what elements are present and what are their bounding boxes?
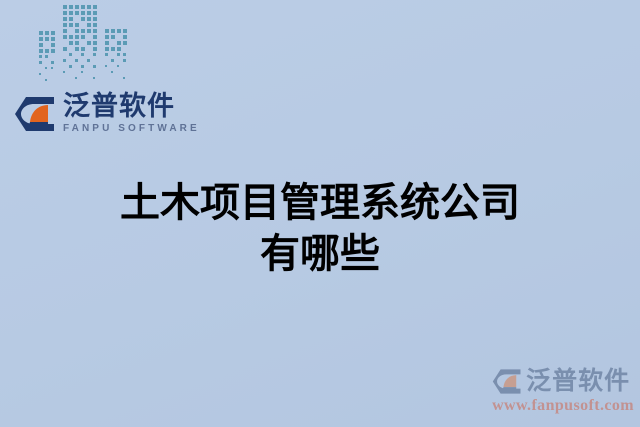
watermark-lockup: 泛普软件 [492,368,634,395]
page-title-line-1: 土木项目管理系统公司 [0,178,640,229]
fanpu-logo-mark-icon [492,368,522,395]
brand-name-en: FANPU SOFTWARE [63,124,200,134]
brand-lockup: 泛普软件 FANPU SOFTWARE [14,93,200,134]
promo-banner: 泛普软件 FANPU SOFTWARE 土木项目管理系统公司 有哪些 泛普软件 … [0,0,640,427]
fanpu-logo-mark-icon [14,95,56,133]
watermark-url: www.fanpusoft.com [492,397,634,415]
page-title: 土木项目管理系统公司 有哪些 [0,178,640,280]
brand-wordmark: 泛普软件 FANPU SOFTWARE [63,93,200,134]
pixel-city-skyline-icon [36,0,136,88]
brand-name-cn: 泛普软件 [63,93,200,120]
watermark-name-cn: 泛普软件 [526,369,630,394]
page-title-line-2: 有哪些 [0,229,640,280]
watermark: 泛普软件 www.fanpusoft.com [492,368,634,415]
